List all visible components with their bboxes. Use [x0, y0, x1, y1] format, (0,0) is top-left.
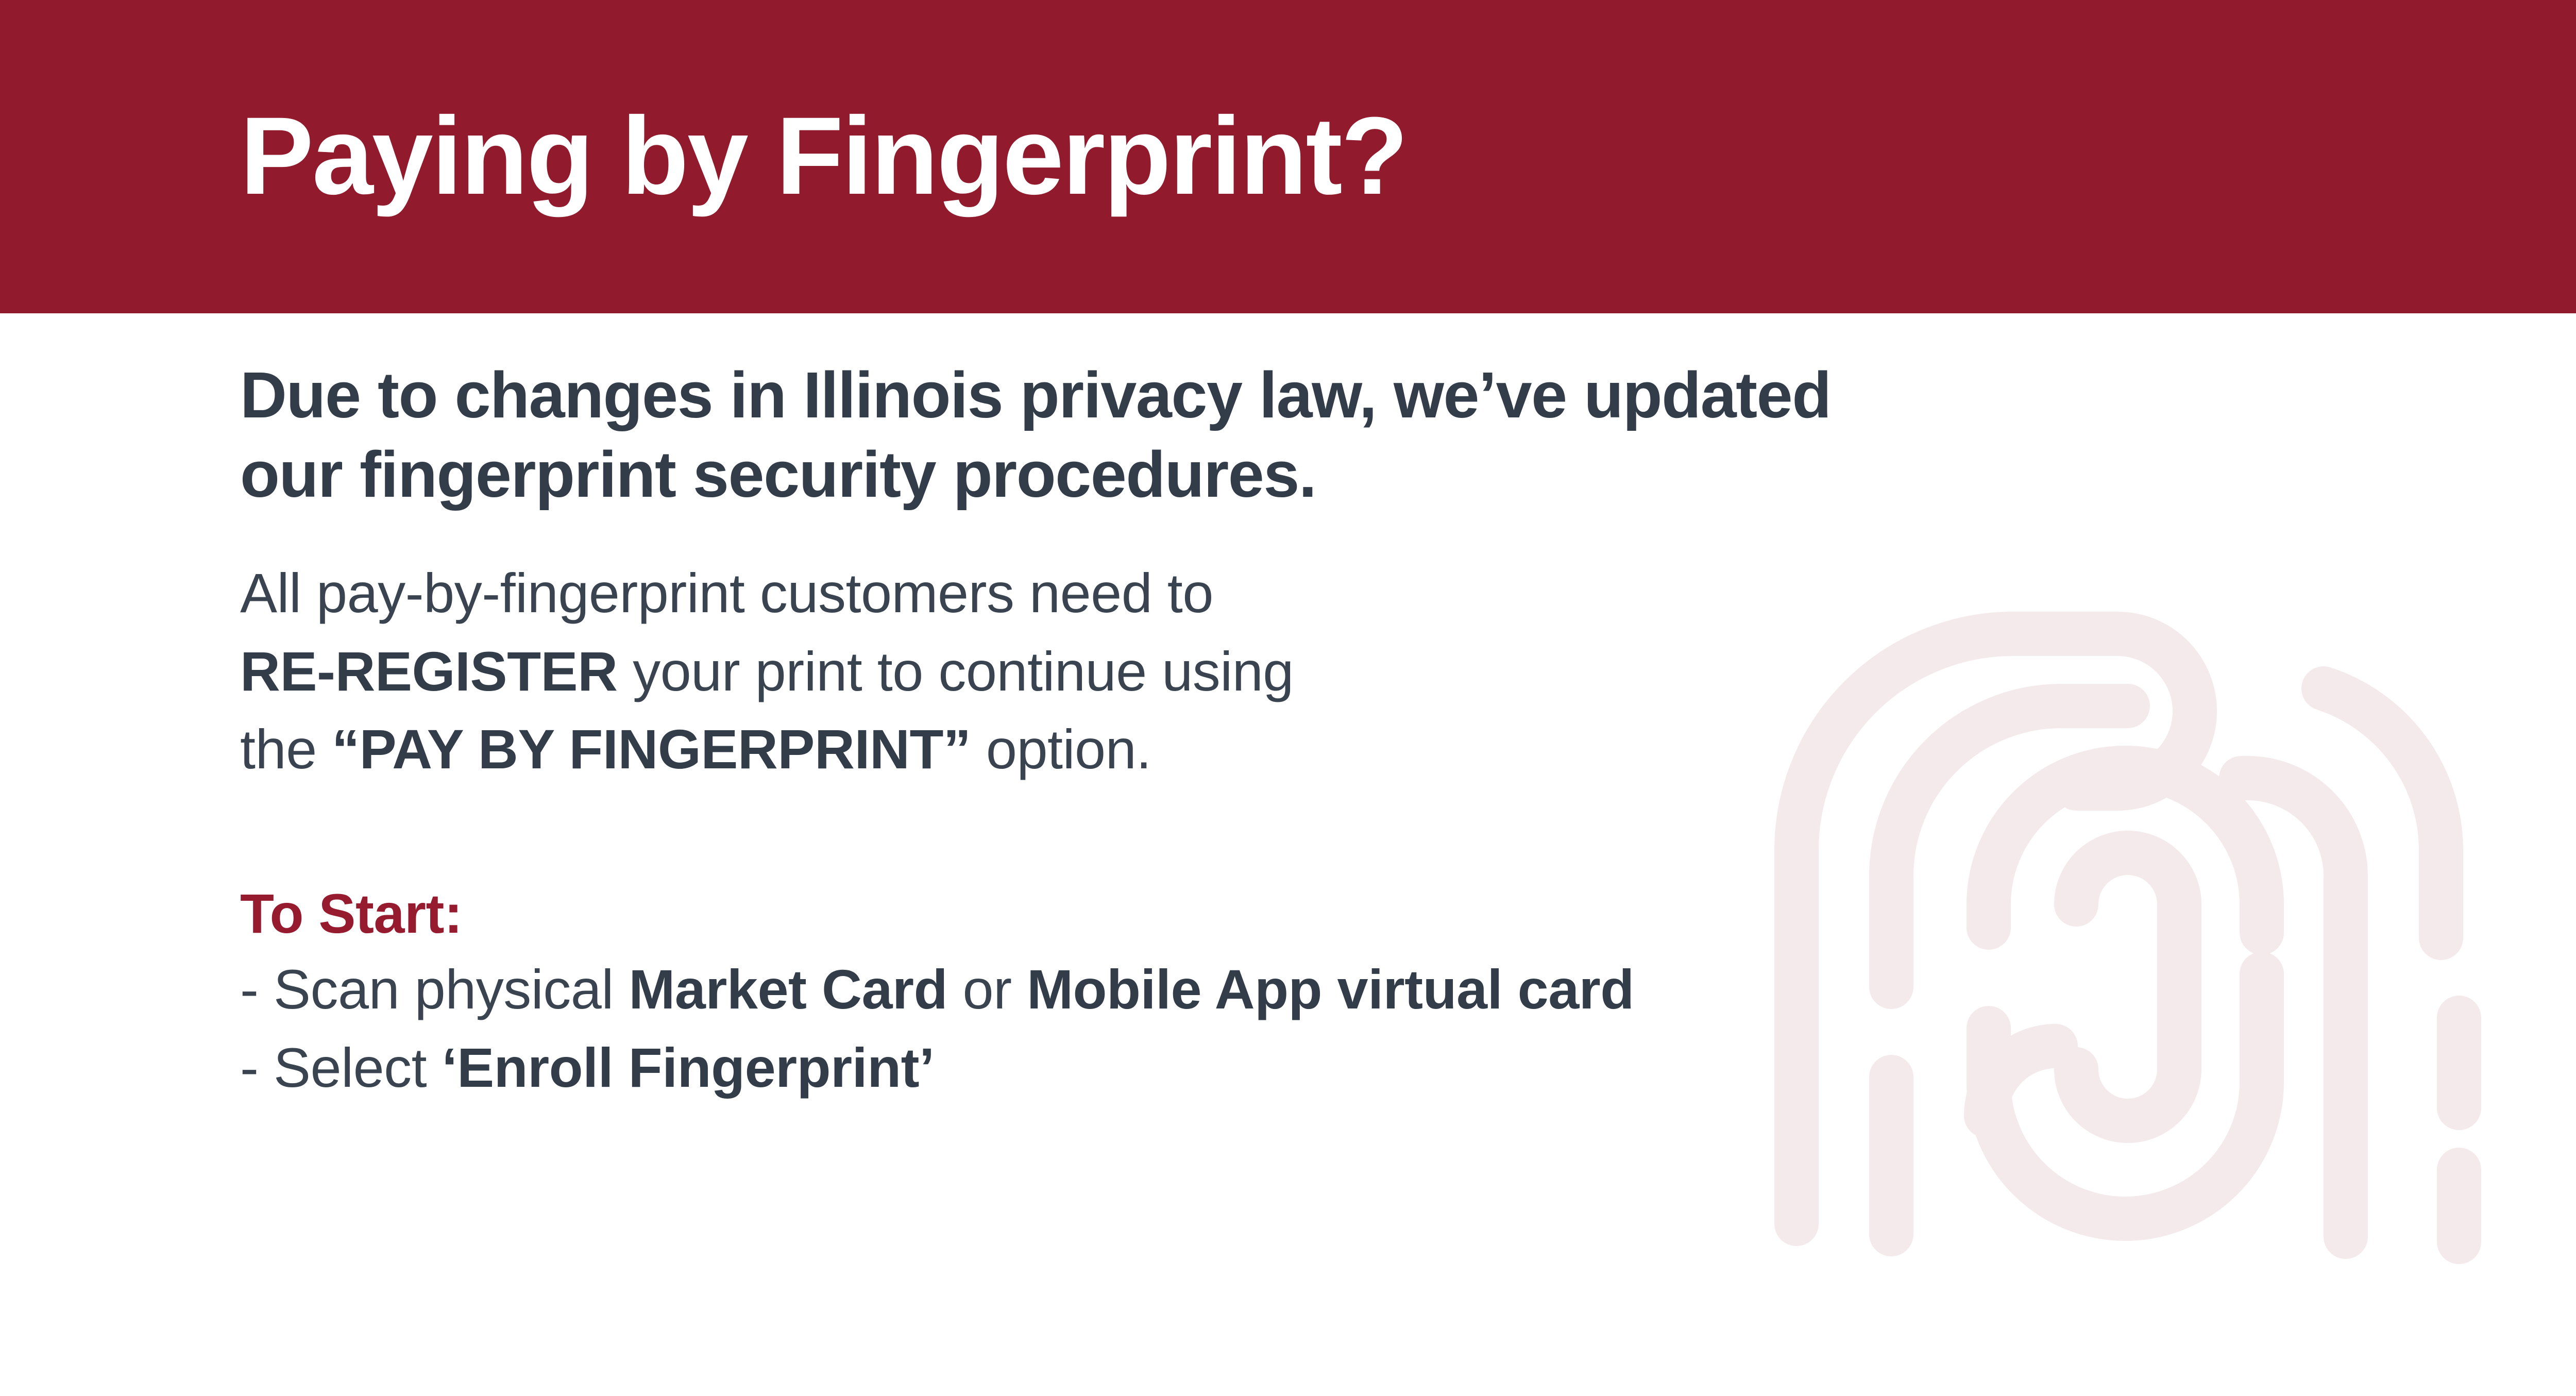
body-content: Due to changes in Illinois privacy law, … — [240, 356, 2455, 1106]
bullet-1-pre: - Scan physical — [240, 958, 629, 1020]
paragraph-line-2-rest: your print to continue using — [618, 640, 1294, 702]
market-card-emphasis: Market Card — [629, 958, 947, 1020]
page-title: Paying by Fingerprint? — [240, 101, 1406, 211]
mobile-app-card-emphasis: Mobile App virtual card — [1027, 958, 1634, 1020]
paragraph-line-1: All pay-by-fingerprint customers need to — [240, 554, 2455, 632]
to-start-heading: To Start: — [240, 788, 2455, 946]
re-register-emphasis: RE-REGISTER — [240, 640, 618, 702]
paragraph-line-2: RE-REGISTER your print to continue using — [240, 632, 2455, 710]
pay-by-fingerprint-emphasis: “PAY BY FINGERPRINT” — [332, 718, 971, 780]
lede-heading: Due to changes in Illinois privacy law, … — [240, 356, 2455, 514]
bullet-1-mid: or — [947, 958, 1027, 1020]
paragraph-line-3-pre: the — [240, 718, 332, 780]
bullet-2-pre: - Select — [240, 1036, 442, 1099]
lede-line-1: Due to changes in Illinois privacy law, … — [240, 356, 2455, 435]
enroll-fingerprint-emphasis: ‘Enroll Fingerprint’ — [442, 1036, 935, 1099]
list-item: - Scan physical Market Card or Mobile Ap… — [240, 950, 2455, 1028]
list-item: - Select ‘Enroll Fingerprint’ — [240, 1029, 2455, 1106]
instruction-paragraph: All pay-by-fingerprint customers need to… — [240, 514, 2455, 788]
paragraph-line-3-post: option. — [971, 718, 1151, 780]
notice-slide: Paying by Fingerprint? — [0, 0, 2576, 1396]
to-start-steps: - Scan physical Market Card or Mobile Ap… — [240, 946, 2455, 1106]
paragraph-line-3: the “PAY BY FINGERPRINT” option. — [240, 710, 2455, 788]
header-band: Paying by Fingerprint? — [0, 0, 2576, 313]
lede-line-2: our fingerprint security procedures. — [240, 435, 2455, 514]
